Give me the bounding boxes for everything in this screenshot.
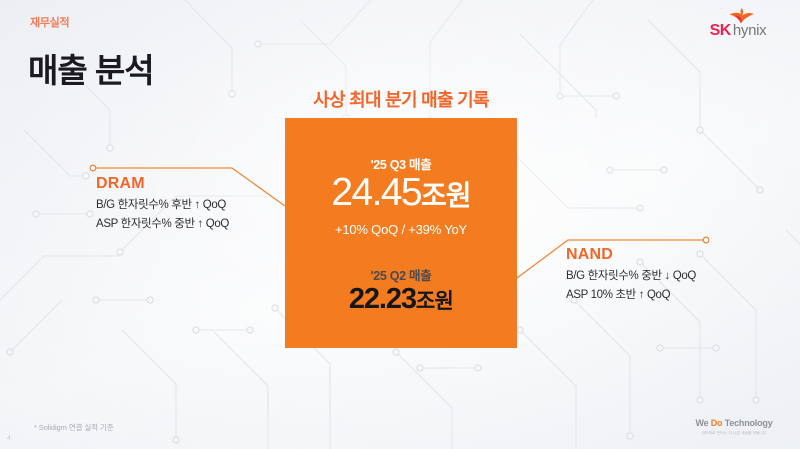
q2-number: 22.23 bbox=[349, 283, 416, 315]
footnote: * Solidigm 연결 실적 기준 bbox=[34, 422, 114, 433]
logo-wordmark: SKhynix bbox=[694, 23, 782, 39]
q3-unit: 조원 bbox=[421, 180, 471, 211]
page-number: 4 bbox=[7, 435, 11, 442]
tagline-accent: Do bbox=[711, 418, 723, 428]
callout-dram-line-2: ASP 한자릿수% 중반 ↑ QoQ bbox=[96, 215, 229, 234]
logo-hynix-text: hynix bbox=[733, 22, 767, 39]
sk-hynix-logo: SKhynix bbox=[694, 8, 782, 42]
callout-dram-line-1: B/G 한자릿수% 후반 ↑ QoQ bbox=[96, 196, 229, 215]
growth-delta: +10% QoQ / +39% YoY bbox=[285, 222, 517, 237]
logo-sk-text: SK bbox=[710, 22, 731, 39]
q3-number: 24.45 bbox=[331, 171, 421, 214]
page-title: 매출 분석 bbox=[28, 52, 154, 90]
slide-canvas: 재무실적 매출 분석 SKhynix 사상 최대 분기 매출 기록 '25 Q3… bbox=[0, 0, 800, 449]
corporate-tagline: We Do Technology 반도체로 만드는, 더 나은 세상을 만듭니다 bbox=[686, 418, 782, 435]
callout-nand-title: NAND bbox=[566, 245, 696, 264]
callout-nand-line-1: B/G 한자릿수% 중반 ↓ QoQ bbox=[566, 267, 696, 286]
eyebrow-label: 재무실적 bbox=[30, 14, 69, 30]
q3-value: 24.45조원 bbox=[285, 171, 517, 215]
q2-value: 22.23조원 bbox=[285, 283, 517, 315]
q2-label: '25 Q2 매출 bbox=[285, 265, 517, 284]
callout-nand: NAND B/G 한자릿수% 중반 ↓ QoQ ASP 10% 초반 ↑ QoQ bbox=[566, 245, 696, 304]
tagline-main: We Do Technology bbox=[686, 418, 782, 429]
record-heading: 사상 최대 분기 매출 기록 bbox=[285, 86, 517, 112]
callout-dram: DRAM B/G 한자릿수% 후반 ↑ QoQ ASP 한자릿수% 중반 ↑ Q… bbox=[96, 174, 229, 233]
tagline-pre: We bbox=[696, 418, 711, 428]
q2-unit: 조원 bbox=[416, 290, 453, 313]
dram-connector-dot bbox=[90, 165, 96, 171]
callout-dram-title: DRAM bbox=[96, 174, 229, 193]
tagline-post: Technology bbox=[722, 418, 772, 428]
callout-nand-line-2: ASP 10% 초반 ↑ QoQ bbox=[566, 286, 696, 305]
tagline-sub: 반도체로 만드는, 더 나은 세상을 만듭니다 bbox=[686, 431, 782, 435]
nand-connector-dot bbox=[703, 237, 709, 243]
revenue-panel: '25 Q3 매출 24.45조원 +10% QoQ / +39% YoY '2… bbox=[285, 118, 517, 348]
